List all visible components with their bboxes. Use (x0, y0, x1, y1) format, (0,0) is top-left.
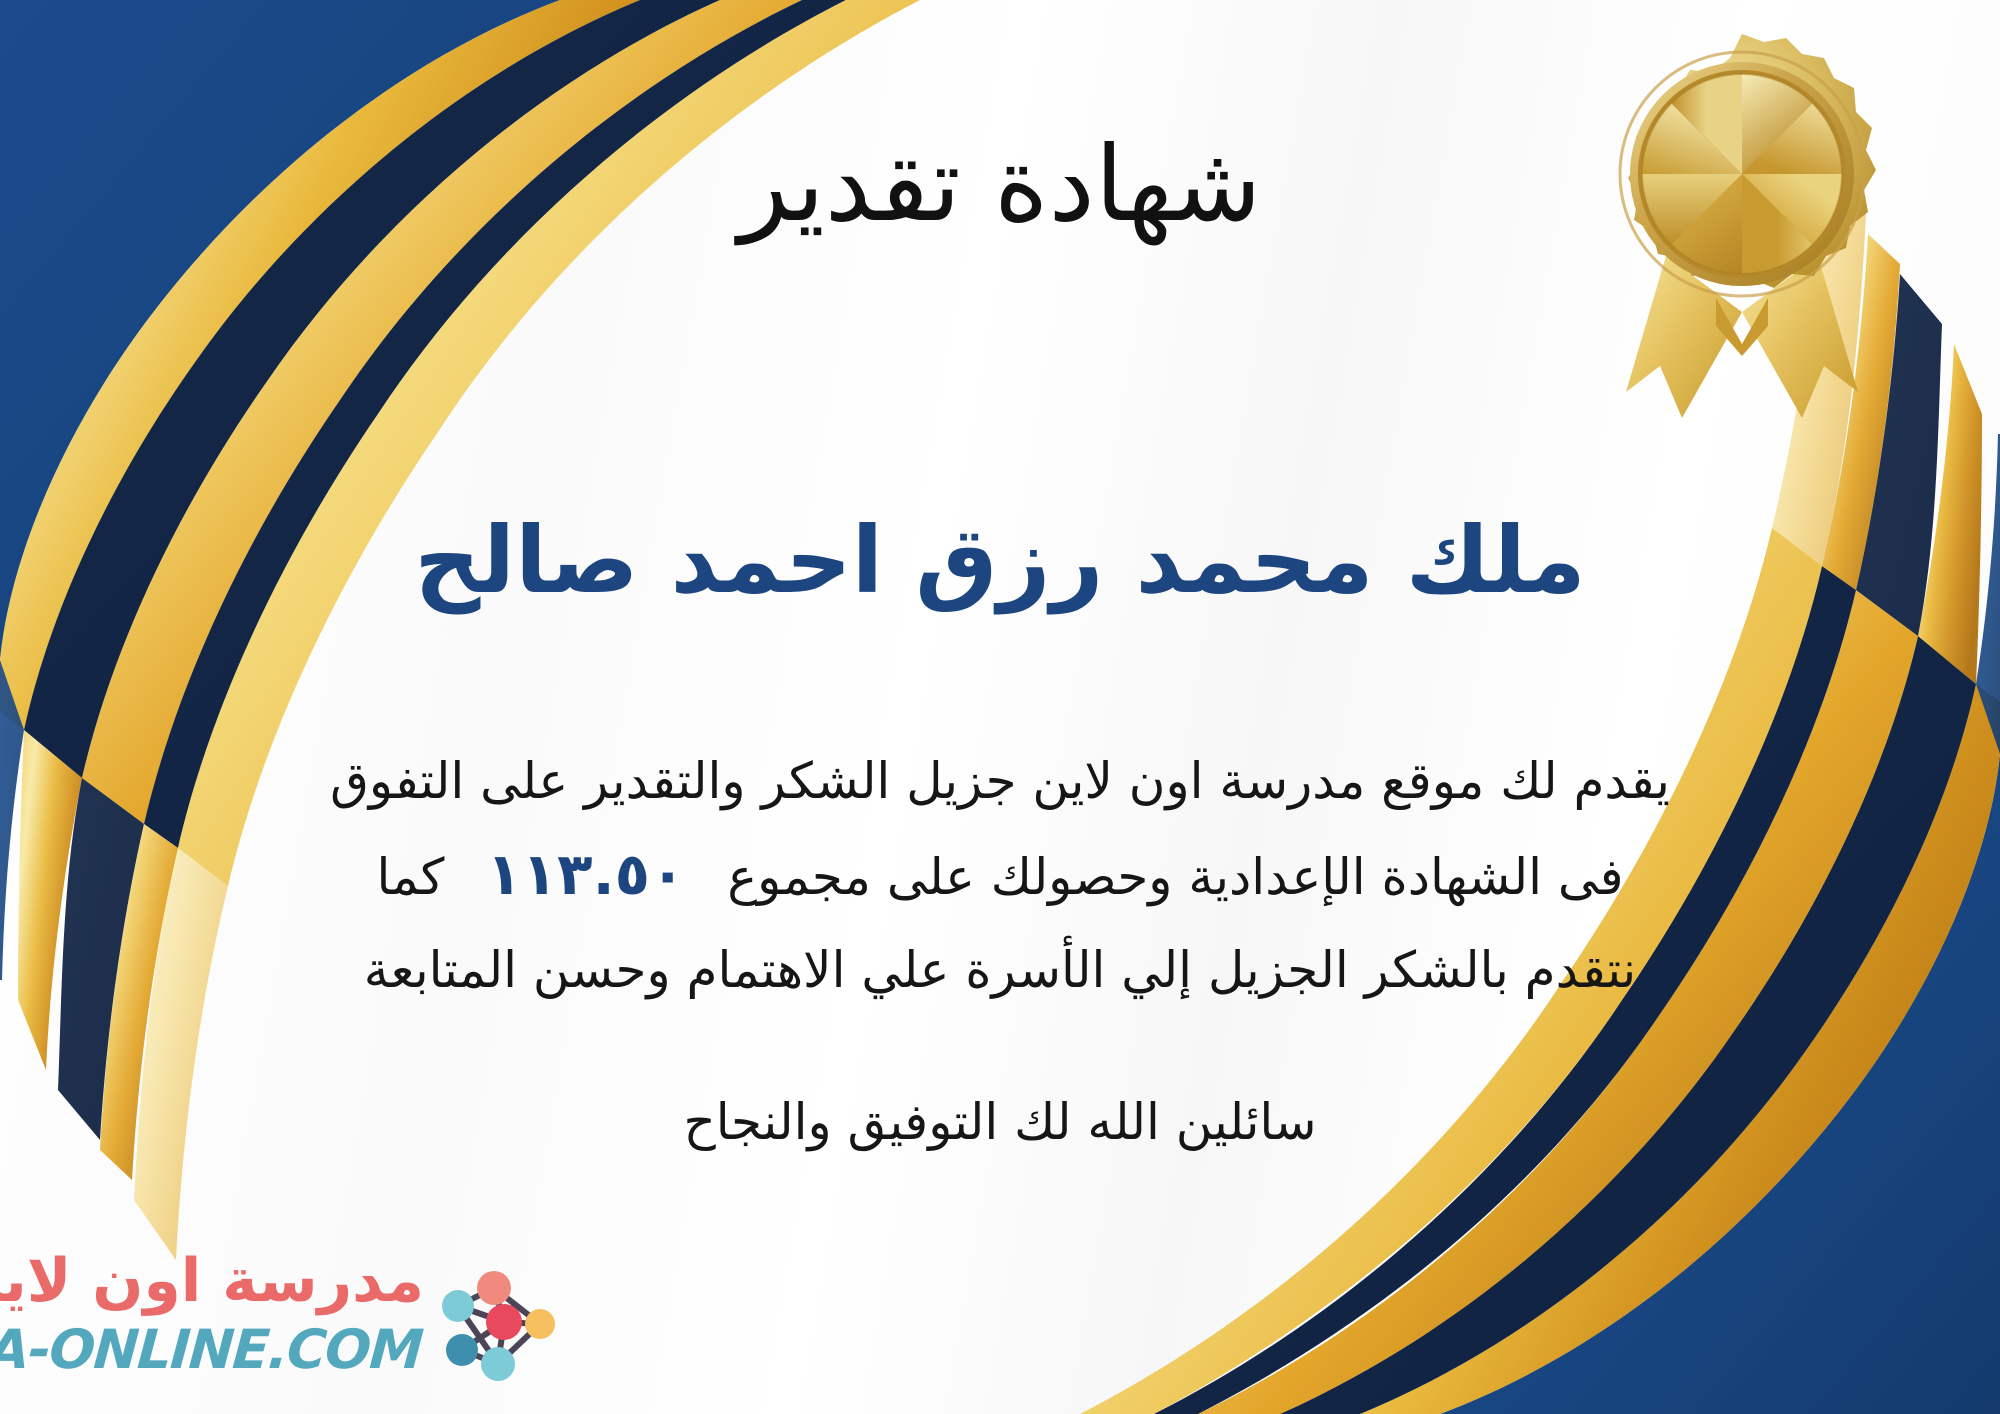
node-center (486, 1304, 522, 1340)
node-right (525, 1309, 555, 1339)
certificate-body: يقدم لك موقع مدرسة اون لاين جزيل الشكر و… (60, 735, 1940, 1017)
node-bottom-left (446, 1334, 478, 1366)
closing-wish-line: سائلين الله لك التوفيق والنجاح (0, 1090, 2000, 1155)
body-line-2: فى الشهادة الإعدادية وحصولك على مجموع ١١… (60, 828, 1940, 924)
body-line-3: نتقدم بالشكر الجزيل إلي الأسرة علي الاهت… (60, 924, 1940, 1017)
site-logo[interactable]: مدرسة اون لاين MADRSA-ONLINE.COM (24, 1240, 564, 1400)
node-bottom (481, 1347, 515, 1381)
body-line-2-suffix: كما (377, 848, 445, 906)
node-top (477, 1271, 511, 1305)
network-nodes-icon (432, 1260, 564, 1386)
grade-total-value: ١١٣.٥٠ (460, 840, 711, 908)
logo-arabic-name: مدرسة اون لاين (0, 1246, 424, 1316)
recipient-name: ملك محمد رزق احمد صالح (0, 510, 2000, 611)
node-left (442, 1290, 474, 1322)
logo-domain-text: MADRSA-ONLINE.COM (0, 1318, 424, 1381)
certificate-card: شهادة تقدير ملك محمد رزق احمد صالح يقدم … (0, 0, 2000, 1414)
body-line-1: يقدم لك موقع مدرسة اون لاين جزيل الشكر و… (60, 735, 1940, 828)
body-line-2-prefix: فى الشهادة الإعدادية وحصولك على مجموع (727, 848, 1623, 906)
gold-award-medal-ribbon-icon (1596, 26, 1888, 418)
